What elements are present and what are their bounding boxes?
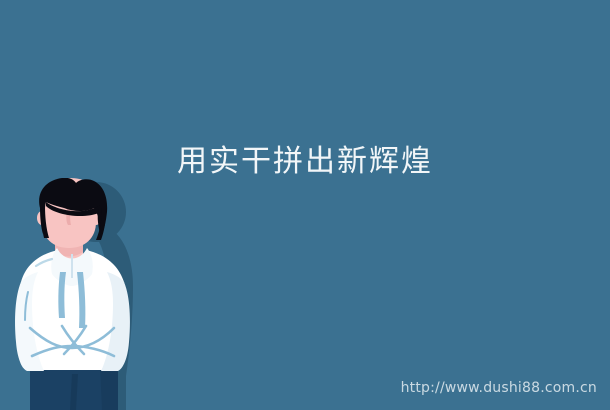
- hoodie: [15, 248, 130, 371]
- page-title: 用实干拼出新辉煌: [0, 142, 610, 182]
- illustration-young-man-in-white-hoodie: [0, 178, 150, 410]
- poster-canvas: 用实干拼出新辉煌 http://www.dushi88.com.cn: [0, 0, 610, 410]
- watermark-url: http://www.dushi88.com.cn: [401, 379, 597, 397]
